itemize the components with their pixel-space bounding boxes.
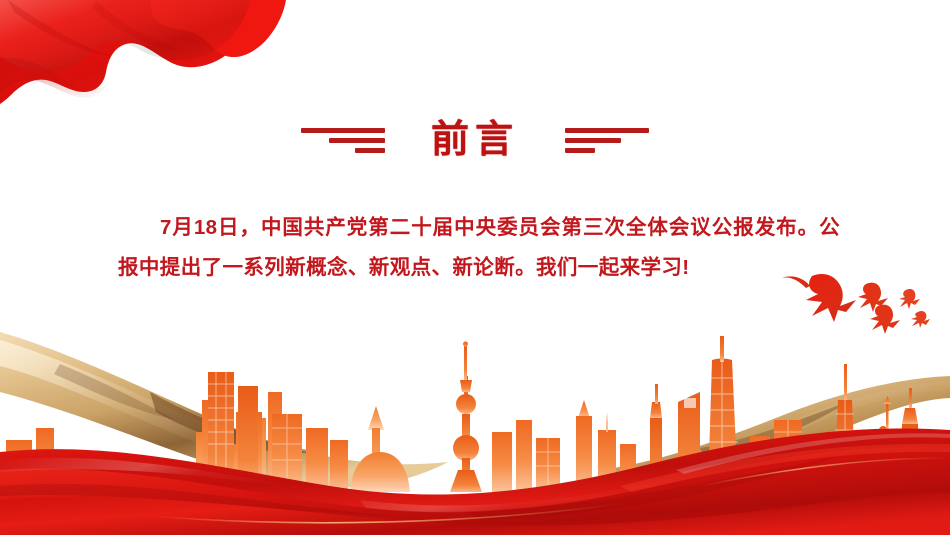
dove-medium-1 [858,283,888,312]
slide-canvas: 前言 7月18日，中国共产党第二十届中央委员会第三次全体会议公报发布。公报中提出… [0,0,950,535]
deco-bar [301,128,385,133]
deco-bar [355,148,385,153]
deco-bar [565,128,649,133]
statue-of-liberty [874,396,891,492]
deco-bar [329,138,385,143]
dove-small-1 [899,289,920,309]
title-decoration-left [301,123,385,157]
deco-bar [565,138,621,143]
empire-state-building [900,388,920,492]
oriental-pearl-tower [450,342,482,493]
title-decoration-right [565,123,649,157]
page-title: 前言 [385,121,565,159]
dove-medium-2 [870,305,900,334]
shanghai-world-financial-center [678,392,700,492]
title-block: 前言 [0,112,950,168]
shanghai-tower [708,336,738,492]
jin-mao-tower [650,384,662,492]
intro-paragraph: 7月18日，中国共产党第二十届中央委员会第三次全体会议公报发布。公报中提出了一系… [118,208,840,288]
deco-bar [565,148,595,153]
dove-small-2 [911,311,930,328]
one-world-trade-center [834,364,856,492]
